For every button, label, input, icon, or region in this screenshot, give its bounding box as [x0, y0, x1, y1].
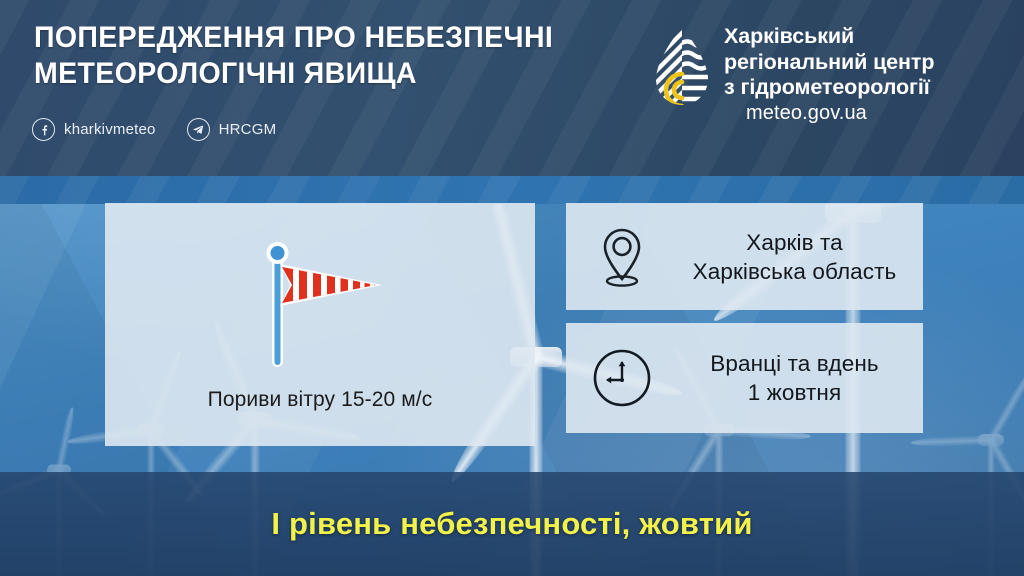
location-line-2: Харківська область	[693, 259, 897, 284]
logo-line-1: Харківський	[724, 24, 854, 48]
time-row: Вранці та вдень 1 жовтня	[566, 323, 923, 433]
organization-logo[interactable]: Харківський регіональний центр з гідроме…	[651, 24, 934, 126]
location-panel: Харків та Харківська область	[566, 203, 923, 310]
wind-speed-caption: Пориви вітру 15-20 м/с	[105, 388, 535, 412]
facebook-handle[interactable]: kharkivmeteo	[64, 121, 156, 138]
page-title-line1: ПОПЕРЕДЖЕННЯ ПРО НЕБЕЗПЕЧНІ	[34, 20, 623, 56]
location-text: Харків та Харківська область	[678, 228, 923, 286]
telegram-handle[interactable]: HRCGM	[219, 121, 277, 138]
windsock-icon	[220, 231, 420, 371]
location-line-1: Харків та	[746, 230, 843, 255]
infographic-canvas: ПОПЕРЕДЖЕННЯ ПРО НЕБЕЗПЕЧНІ МЕТЕОРОЛОГІЧ…	[0, 0, 1024, 576]
logo-line-3: з гідрометеорології	[724, 75, 930, 99]
danger-level-banner: І рівень небезпечності, жовтий	[0, 472, 1024, 576]
time-text: Вранці та вдень 1 жовтня	[678, 349, 923, 407]
time-line-1: Вранці та вдень	[710, 351, 878, 376]
clock-icon	[566, 347, 678, 409]
logo-line-2: регіональний центр	[724, 50, 934, 74]
time-panel: Вранці та вдень 1 жовтня	[566, 323, 923, 433]
header-accent-strip	[0, 176, 1024, 204]
telegram-icon[interactable]	[187, 118, 210, 141]
location-pin-icon	[566, 226, 678, 288]
page-title: ПОПЕРЕДЖЕННЯ ПРО НЕБЕЗПЕЧНІ МЕТЕОРОЛОГІЧ…	[34, 20, 623, 92]
water-droplet-logo-icon	[651, 24, 713, 121]
logo-text-block: Харківський регіональний центр з гідроме…	[724, 24, 934, 126]
social-links: kharkivmeteo HRCGM	[32, 118, 276, 141]
time-line-2: 1 жовтня	[748, 380, 842, 405]
wind-warning-panel: Пориви вітру 15-20 м/с	[105, 203, 535, 446]
logo-website-url[interactable]: meteo.gov.ua	[724, 101, 934, 127]
location-row: Харків та Харківська область	[566, 203, 923, 310]
facebook-icon[interactable]	[32, 118, 55, 141]
page-title-line2: МЕТЕОРОЛОГІЧНІ ЯВИЩА	[34, 56, 623, 92]
